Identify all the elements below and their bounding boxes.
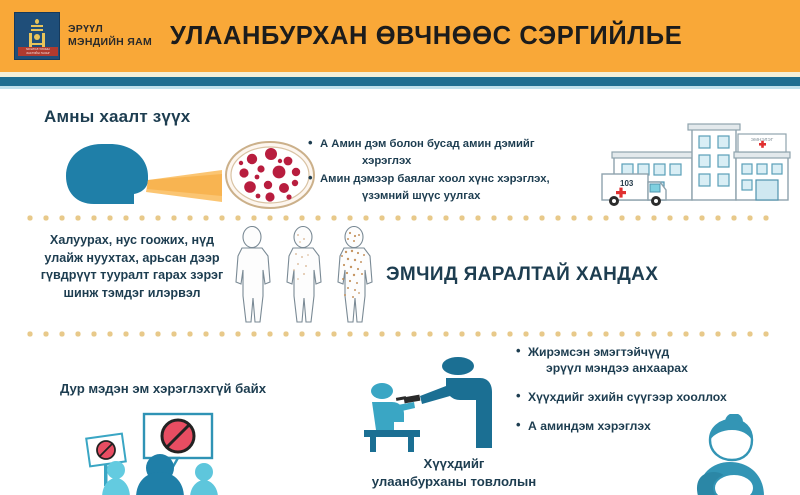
bullet-text: Жирэмсэн эмэгтэйчүүд bbox=[528, 345, 669, 359]
body-rash-figures-icon bbox=[228, 226, 380, 328]
mongolia-state-emblem-icon: МОНГОЛ УЛСЫН ЗАСГИЙН ГАЗАР bbox=[14, 12, 60, 60]
divider-dots-2 bbox=[22, 330, 778, 338]
ambulance-number-label: 103 bbox=[620, 179, 634, 188]
list-item: Хүүхдийг эхийн сүүгээр хооллох bbox=[514, 389, 794, 405]
emblem-ribbon: МОНГОЛ УЛСЫН ЗАСГИЙН ГАЗАР bbox=[18, 47, 58, 56]
header-bar: МОНГОЛ УЛСЫН ЗАСГИЙН ГАЗАР ЭРҮҮЛ МЭНДИЙН… bbox=[0, 0, 800, 72]
divider-light-blue bbox=[0, 86, 800, 89]
section1-bullet-list: А Амин дэм болон бусад амин дэмийг хэрэг… bbox=[306, 136, 586, 206]
divider-teal bbox=[0, 77, 800, 86]
ministry-name: ЭРҮҮЛ МЭНДИЙН ЯАМ bbox=[68, 23, 152, 49]
vaccination-icon bbox=[360, 356, 530, 452]
ministry-line-1: ЭРҮҮЛ bbox=[68, 23, 152, 36]
divider-dots-1 bbox=[22, 214, 778, 222]
head-silhouette-icon bbox=[62, 136, 242, 208]
bullet-text-cont: үзэмний шүүс уулгах bbox=[320, 188, 586, 205]
list-item: Амин дэмээр баялаг хоол хүнс хэрэглэх, ү… bbox=[306, 171, 586, 204]
bullet-text: А аминдэм хэрэглэх bbox=[528, 419, 651, 433]
no-medication-sign-icon bbox=[82, 412, 260, 495]
list-item: Жирэмсэн эмэгтэйчүүд эрүүл мэндээ анхаар… bbox=[514, 344, 794, 376]
ministry-logo: МОНГОЛ УЛСЫН ЗАСГИЙН ГАЗАР ЭРҮҮЛ МЭНДИЙН… bbox=[14, 12, 152, 60]
bullet-text: Амин дэмээр баялаг хоол хүнс хэрэглэх, bbox=[320, 173, 550, 185]
emblem-ribbon-line2: ЗАСГИЙН ГАЗАР bbox=[26, 52, 49, 56]
list-item: А Амин дэм болон бусад амин дэмийг хэрэг… bbox=[306, 136, 586, 169]
breastfeeding-mother-icon bbox=[672, 414, 784, 495]
section3-caption: Хүүхдийг улаанбурханы товлолын bbox=[330, 455, 578, 491]
bullet-text-cont: эрүүл мэндээ анхаарах bbox=[528, 360, 794, 376]
bullet-text-cont: хэрэглэх bbox=[320, 153, 586, 170]
section1-title: Амны хаалт зүүх bbox=[44, 107, 190, 127]
page-title: УЛААНБУРХАН ӨВЧНӨӨС СЭРГИЙЛЬЕ bbox=[170, 22, 682, 51]
section3-caption-line1: Хүүхдийг bbox=[330, 455, 578, 473]
bullet-text: А Амин дэм болон бусад амин дэмийг bbox=[320, 138, 535, 150]
hospital-building-icon: ЭМНЭЛЭГ 103 bbox=[596, 112, 792, 212]
section3-caption-line2: улаанбурханы товлолын bbox=[330, 473, 578, 491]
petri-dish-icon bbox=[224, 139, 316, 211]
section3-title: Дур мэдэн эм хэрэглэхгүй байх bbox=[60, 381, 266, 396]
section2-symptoms-text: Халуурах, нус гоожих, нүд улайж нуухтах,… bbox=[34, 232, 230, 302]
infographic-page: МОНГОЛ УЛСЫН ЗАСГИЙН ГАЗАР ЭРҮҮЛ МЭНДИЙН… bbox=[0, 0, 800, 495]
ministry-line-2: МЭНДИЙН ЯАМ bbox=[68, 36, 152, 49]
section2-heading: ЭМЧИД ЯАРАЛТАЙ ХАНДАХ bbox=[386, 264, 658, 286]
bullet-text: Хүүхдийг эхийн сүүгээр хооллох bbox=[528, 390, 727, 404]
